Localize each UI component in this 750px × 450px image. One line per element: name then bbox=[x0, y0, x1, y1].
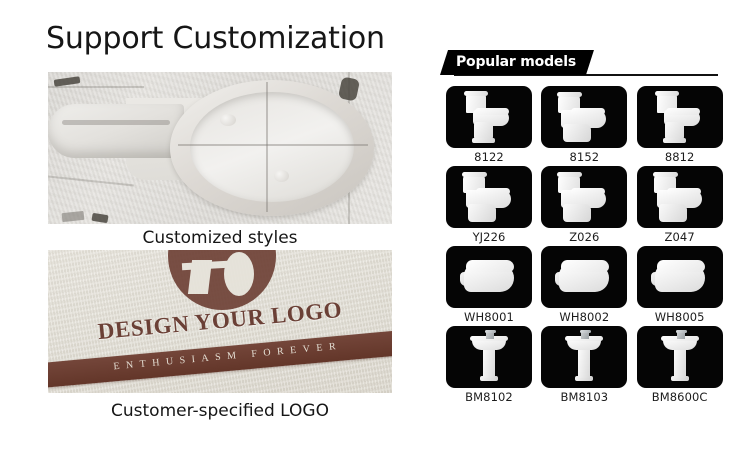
section-title-tag: Popular models bbox=[440, 50, 594, 75]
product-part bbox=[557, 92, 582, 97]
product-part bbox=[653, 172, 678, 177]
model-thumbnail[interactable] bbox=[446, 166, 532, 228]
product-part bbox=[663, 138, 686, 143]
model-grid: 812281528812YJ226Z026Z047WH8001WH8002WH8… bbox=[446, 86, 724, 406]
model-thumbnail[interactable] bbox=[541, 326, 627, 388]
customer-logo-caption: Customer-specified LOGO bbox=[48, 401, 392, 421]
model-thumbnail[interactable] bbox=[446, 86, 532, 148]
customization-panel: Support Customization Custo bbox=[0, 0, 418, 450]
model-cell[interactable]: 8152 bbox=[541, 86, 627, 166]
model-label: 8152 bbox=[541, 148, 627, 166]
model-cell[interactable]: BM8102 bbox=[446, 326, 532, 406]
logo-mark-cut bbox=[188, 260, 212, 294]
model-label: Z047 bbox=[637, 228, 723, 246]
pedestal-basin-icon bbox=[637, 326, 723, 388]
model-label: WH8005 bbox=[637, 308, 723, 326]
model-cell[interactable]: WH8001 bbox=[446, 246, 532, 326]
wall-hung-toilet-icon bbox=[446, 246, 532, 308]
one-piece-toilet-icon bbox=[446, 166, 532, 228]
model-thumbnail[interactable] bbox=[446, 326, 532, 388]
product-part bbox=[475, 108, 509, 115]
page-title: Support Customization bbox=[46, 21, 385, 56]
mold-dimple bbox=[274, 170, 289, 182]
product-part bbox=[483, 349, 495, 378]
mold-tank-section bbox=[48, 104, 184, 158]
model-label: BM8600C bbox=[637, 388, 723, 406]
model-label: WH8002 bbox=[541, 308, 627, 326]
mold-form bbox=[52, 78, 382, 218]
product-part bbox=[557, 172, 582, 177]
product-part bbox=[462, 172, 487, 177]
product-part bbox=[580, 330, 591, 333]
plaster-mold-photo bbox=[48, 72, 392, 224]
model-label: WH8001 bbox=[446, 308, 532, 326]
model-thumbnail[interactable] bbox=[637, 86, 723, 148]
model-label: Z026 bbox=[541, 228, 627, 246]
model-thumbnail[interactable] bbox=[541, 166, 627, 228]
model-cell[interactable]: YJ226 bbox=[446, 166, 532, 246]
model-cell[interactable]: 8122 bbox=[446, 86, 532, 166]
pedestal-basin-icon bbox=[446, 326, 532, 388]
wall-hung-toilet-icon bbox=[541, 246, 627, 308]
product-part bbox=[571, 188, 605, 195]
product-part bbox=[659, 204, 687, 222]
product-part bbox=[563, 124, 591, 142]
two-piece-toilet-icon bbox=[637, 86, 723, 148]
product-part bbox=[674, 349, 686, 378]
product-part bbox=[666, 108, 700, 115]
mold-dimple bbox=[220, 114, 236, 126]
one-piece-toilet-icon bbox=[637, 166, 723, 228]
product-part bbox=[561, 260, 609, 272]
product-part bbox=[578, 349, 590, 378]
one-piece-toilet-icon bbox=[541, 86, 627, 148]
model-cell[interactable]: Z047 bbox=[637, 166, 723, 246]
model-cell[interactable]: BM8103 bbox=[541, 326, 627, 406]
model-thumbnail[interactable] bbox=[541, 86, 627, 148]
logo-mark-cut bbox=[224, 252, 254, 296]
model-cell[interactable]: BM8600C bbox=[637, 326, 723, 406]
one-piece-toilet-icon bbox=[541, 166, 627, 228]
product-part bbox=[563, 204, 591, 222]
logo-mockup-photo: DESIGN YOUR LOGO ENTHUSIASM FOREVER bbox=[48, 250, 392, 393]
model-label: 8122 bbox=[446, 148, 532, 166]
model-label: BM8102 bbox=[446, 388, 532, 406]
product-part bbox=[476, 188, 510, 195]
model-thumbnail[interactable] bbox=[446, 246, 532, 308]
model-cell[interactable]: 8812 bbox=[637, 86, 723, 166]
customized-styles-caption: Customized styles bbox=[48, 228, 392, 248]
model-thumbnail[interactable] bbox=[541, 246, 627, 308]
section-header: Popular models bbox=[440, 50, 732, 80]
product-part bbox=[571, 108, 605, 115]
model-thumbnail[interactable] bbox=[637, 246, 723, 308]
product-part bbox=[676, 330, 687, 333]
model-cell[interactable]: WH8002 bbox=[541, 246, 627, 326]
model-cell[interactable]: WH8005 bbox=[637, 246, 723, 326]
product-part bbox=[468, 204, 496, 222]
mold-bowl-cavity bbox=[190, 92, 354, 202]
mold-registration-line bbox=[266, 82, 268, 212]
model-thumbnail[interactable] bbox=[637, 326, 723, 388]
product-part bbox=[667, 188, 701, 195]
product-part bbox=[472, 138, 495, 143]
two-piece-toilet-icon bbox=[446, 86, 532, 148]
model-label: BM8103 bbox=[541, 388, 627, 406]
pedestal-basin-icon bbox=[541, 326, 627, 388]
wall-hung-toilet-icon bbox=[637, 246, 723, 308]
model-thumbnail[interactable] bbox=[637, 166, 723, 228]
model-label: YJ226 bbox=[446, 228, 532, 246]
model-cell[interactable]: Z026 bbox=[541, 166, 627, 246]
product-part bbox=[657, 260, 705, 272]
product-part bbox=[485, 330, 496, 333]
product-banner: Support Customization Custo bbox=[0, 0, 750, 450]
popular-models-panel: Popular models 812281528812YJ226Z026Z047… bbox=[418, 0, 750, 450]
product-part bbox=[655, 91, 679, 96]
mold-registration-line bbox=[178, 144, 368, 146]
model-label: 8812 bbox=[637, 148, 723, 166]
product-part bbox=[466, 260, 514, 272]
product-part bbox=[464, 91, 488, 96]
